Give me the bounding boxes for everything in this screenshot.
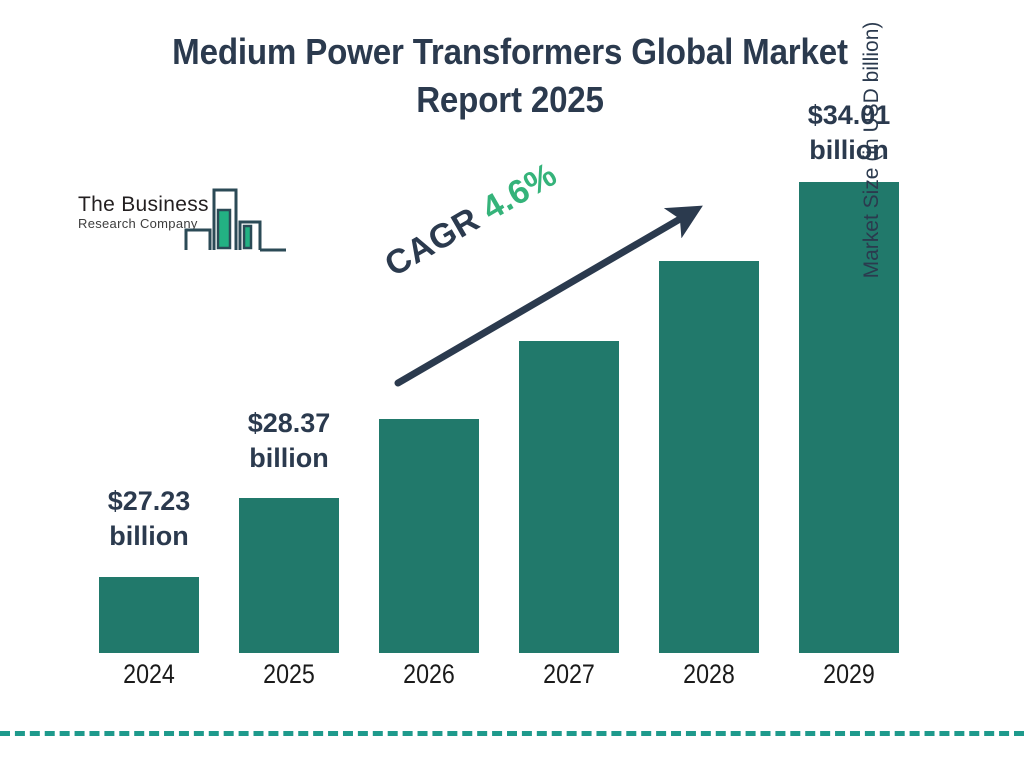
x-tick-label-2026: 2026 [386, 659, 472, 690]
bar-2024[interactable] [99, 577, 199, 653]
y-axis-title: Market Size (in USD billion) [860, 0, 884, 300]
bar-value-label-2025: $28.37 billion [219, 406, 359, 475]
bar-2029[interactable] [799, 182, 899, 653]
bar-2027[interactable] [519, 341, 619, 653]
x-tick-label-2029: 2029 [806, 659, 892, 690]
cagr-value: 4.6% [476, 155, 564, 228]
x-tick-label-2028: 2028 [666, 659, 752, 690]
x-tick-label-2027: 2027 [526, 659, 612, 690]
footer-divider [0, 731, 1024, 736]
chart-canvas: Medium Power Transformers Global Market … [0, 0, 1024, 768]
x-tick-label-2024: 2024 [106, 659, 192, 690]
bar-2025[interactable] [239, 498, 339, 653]
cagr-annotation: CAGR 4.6% [379, 155, 564, 285]
x-tick-label-2025: 2025 [246, 659, 332, 690]
cagr-label: CAGR [379, 195, 495, 284]
bar-value-label-2024: $27.23 billion [79, 484, 219, 553]
bar-value-label-2029: $34.01 billion [779, 98, 919, 167]
bar-2028[interactable] [659, 261, 759, 653]
bar-2026[interactable] [379, 419, 479, 653]
